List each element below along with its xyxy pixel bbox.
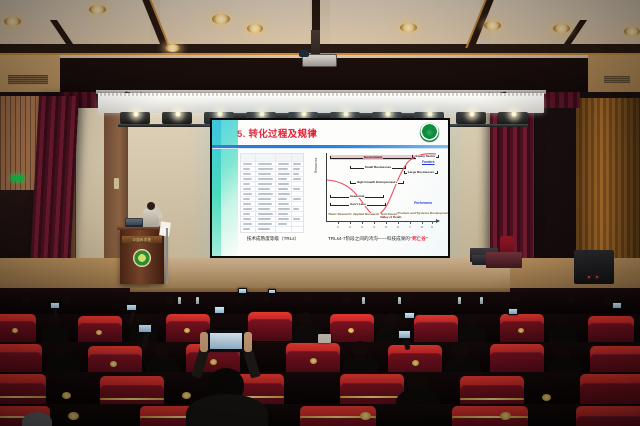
raised-tablet (318, 334, 331, 343)
water-bottle (178, 297, 181, 304)
light-lamp (259, 111, 265, 117)
seat-number-badge (62, 392, 71, 399)
seat-number-badge (412, 360, 419, 366)
raised-tablet-screen (215, 307, 224, 313)
span-bar-label: Applied Research (352, 213, 380, 216)
foreground-audience-head (22, 412, 52, 426)
seat[interactable] (414, 322, 458, 344)
chart-caption-main: TRLs4-7阶段之间的鸿沟——科技成果的 (328, 236, 410, 241)
microphone-stand (166, 228, 168, 284)
raised-phone-screen (269, 290, 275, 293)
light-lamp (217, 111, 223, 117)
seat-number-badge (182, 392, 191, 399)
span-bar-label: Small Businesses (364, 166, 392, 169)
emergency-exit-sign (11, 175, 24, 181)
seat-gold-trim (100, 398, 164, 400)
light-lamp (427, 111, 433, 117)
auditorium-presentation-photo: 5. 转化过程及规律 (0, 0, 640, 426)
door-handle[interactable] (114, 178, 119, 189)
chart-caption: TRLs4-7阶段之间的鸿沟——科技成果的"死亡谷" (308, 236, 448, 242)
hand (244, 332, 252, 352)
projected-slide: 5. 转化过程及规律 (212, 120, 448, 256)
audience-head (165, 296, 174, 305)
seat-number-badge (348, 328, 354, 333)
seat[interactable] (576, 416, 640, 426)
downlight (553, 24, 570, 33)
stage-case (486, 252, 522, 268)
light-lamp (175, 111, 181, 117)
equipment-led (588, 276, 590, 278)
seat-number-badge (518, 328, 524, 333)
slide-title-text: 5. 转化过程及规律 (237, 129, 317, 140)
ceiling (0, 0, 640, 62)
audience-head (342, 294, 351, 303)
slide-edge-bar (212, 120, 221, 256)
raised-phone-screen (405, 313, 414, 318)
seat[interactable] (0, 321, 36, 343)
downlight (400, 23, 417, 32)
audience-head (128, 294, 137, 303)
downlight (484, 21, 501, 30)
downlight (624, 27, 640, 36)
seat-number-badge (542, 394, 551, 401)
water-bottle (362, 297, 365, 304)
water-bottle (196, 297, 199, 304)
funders-annotation: Funders (422, 160, 435, 164)
audience-area (0, 288, 640, 426)
air-vent-right (604, 76, 630, 83)
presenter-head (147, 202, 155, 210)
light-lamp (385, 111, 391, 117)
table-caption: 技术成熟度等级（TRLs） (230, 236, 316, 242)
raised-phone-screen (139, 325, 151, 332)
raised-phone-screen (239, 289, 246, 293)
resources-curve (312, 151, 440, 233)
downlight (247, 24, 263, 33)
seat-gold-trim (460, 398, 524, 400)
raised-phone-screen (399, 331, 410, 338)
slide-divider-rule-light (212, 148, 448, 149)
seat-number-badge (500, 412, 511, 420)
performers-annotation: Performers (414, 201, 432, 205)
raised-phone-screen (51, 303, 59, 308)
light-lamp (301, 111, 307, 117)
water-bottle (480, 297, 483, 304)
equipment-led (596, 276, 598, 278)
downlight (89, 5, 106, 14)
presenter-laptop-screen (126, 219, 142, 225)
span-bar-label: Gov't Labs (349, 203, 367, 206)
seat-gold-trim (340, 396, 404, 398)
trl-table (240, 153, 304, 233)
downlight (212, 14, 230, 24)
span-bar-label: Equity Sector (415, 155, 437, 158)
water-bottle (458, 297, 461, 304)
projector-lens (299, 50, 309, 57)
ceiling-beam-horizontal (0, 44, 640, 53)
downlight (165, 44, 180, 52)
audience-head (566, 294, 575, 303)
water-bottle (398, 297, 401, 304)
audience-head (262, 293, 271, 302)
audience-head (302, 292, 312, 302)
institution-logo-core-icon (425, 128, 434, 137)
span-bar-label: Large Businesses (407, 171, 435, 174)
seat-number-badge (96, 330, 102, 335)
audience-head (512, 293, 521, 302)
foreground-audience-shoulders (186, 394, 268, 426)
audience-head (404, 293, 413, 302)
seat-number-badge (310, 358, 317, 364)
slide-title: 5. 转化过程及规律 (237, 126, 317, 140)
span-bar-label: Product and Systems Development (397, 212, 448, 215)
span-bar-label: Academia (349, 195, 366, 198)
raised-phone-screen (509, 309, 517, 314)
span-bar-label: Government (363, 156, 383, 159)
audience-head (22, 294, 31, 303)
raised-phone-screen (127, 305, 136, 310)
overhead-stage-light-bar (98, 96, 544, 113)
raised-phone-screen (613, 303, 621, 308)
seat[interactable] (248, 319, 292, 341)
light-lamp (511, 111, 517, 117)
seat-gold-trim (0, 396, 46, 398)
valley-of-death-chart: Resources 1 2 3 4 5 6 7 8 9 Government E… (312, 151, 440, 233)
audience-head (62, 295, 71, 304)
seat-number-badge (360, 412, 371, 420)
presenter-notes (159, 221, 171, 236)
downlight (4, 17, 21, 26)
seat-number-badge (12, 328, 18, 333)
podium-seal-icon (133, 249, 151, 267)
span-bar-label: Basic Research (327, 213, 352, 216)
seat-number-badge (68, 412, 79, 420)
light-lamp (343, 111, 349, 117)
hand (200, 332, 208, 352)
air-vent-left (8, 75, 48, 84)
seat-number-badge (110, 361, 117, 367)
lectern-name-plate-text: 中国科学院 (122, 237, 162, 242)
loudspeaker-cabinet (574, 250, 614, 284)
audience-row (0, 372, 640, 406)
seat-number-badge (184, 328, 190, 333)
light-lamp (133, 111, 139, 117)
seat-number-badge (210, 359, 217, 365)
chart-caption-highlight: "死亡谷" (410, 236, 428, 241)
light-lamp (469, 111, 475, 117)
span-bar-label: High Growth Entrepreneurs (356, 181, 399, 184)
foreground-camera-screen (210, 333, 242, 349)
